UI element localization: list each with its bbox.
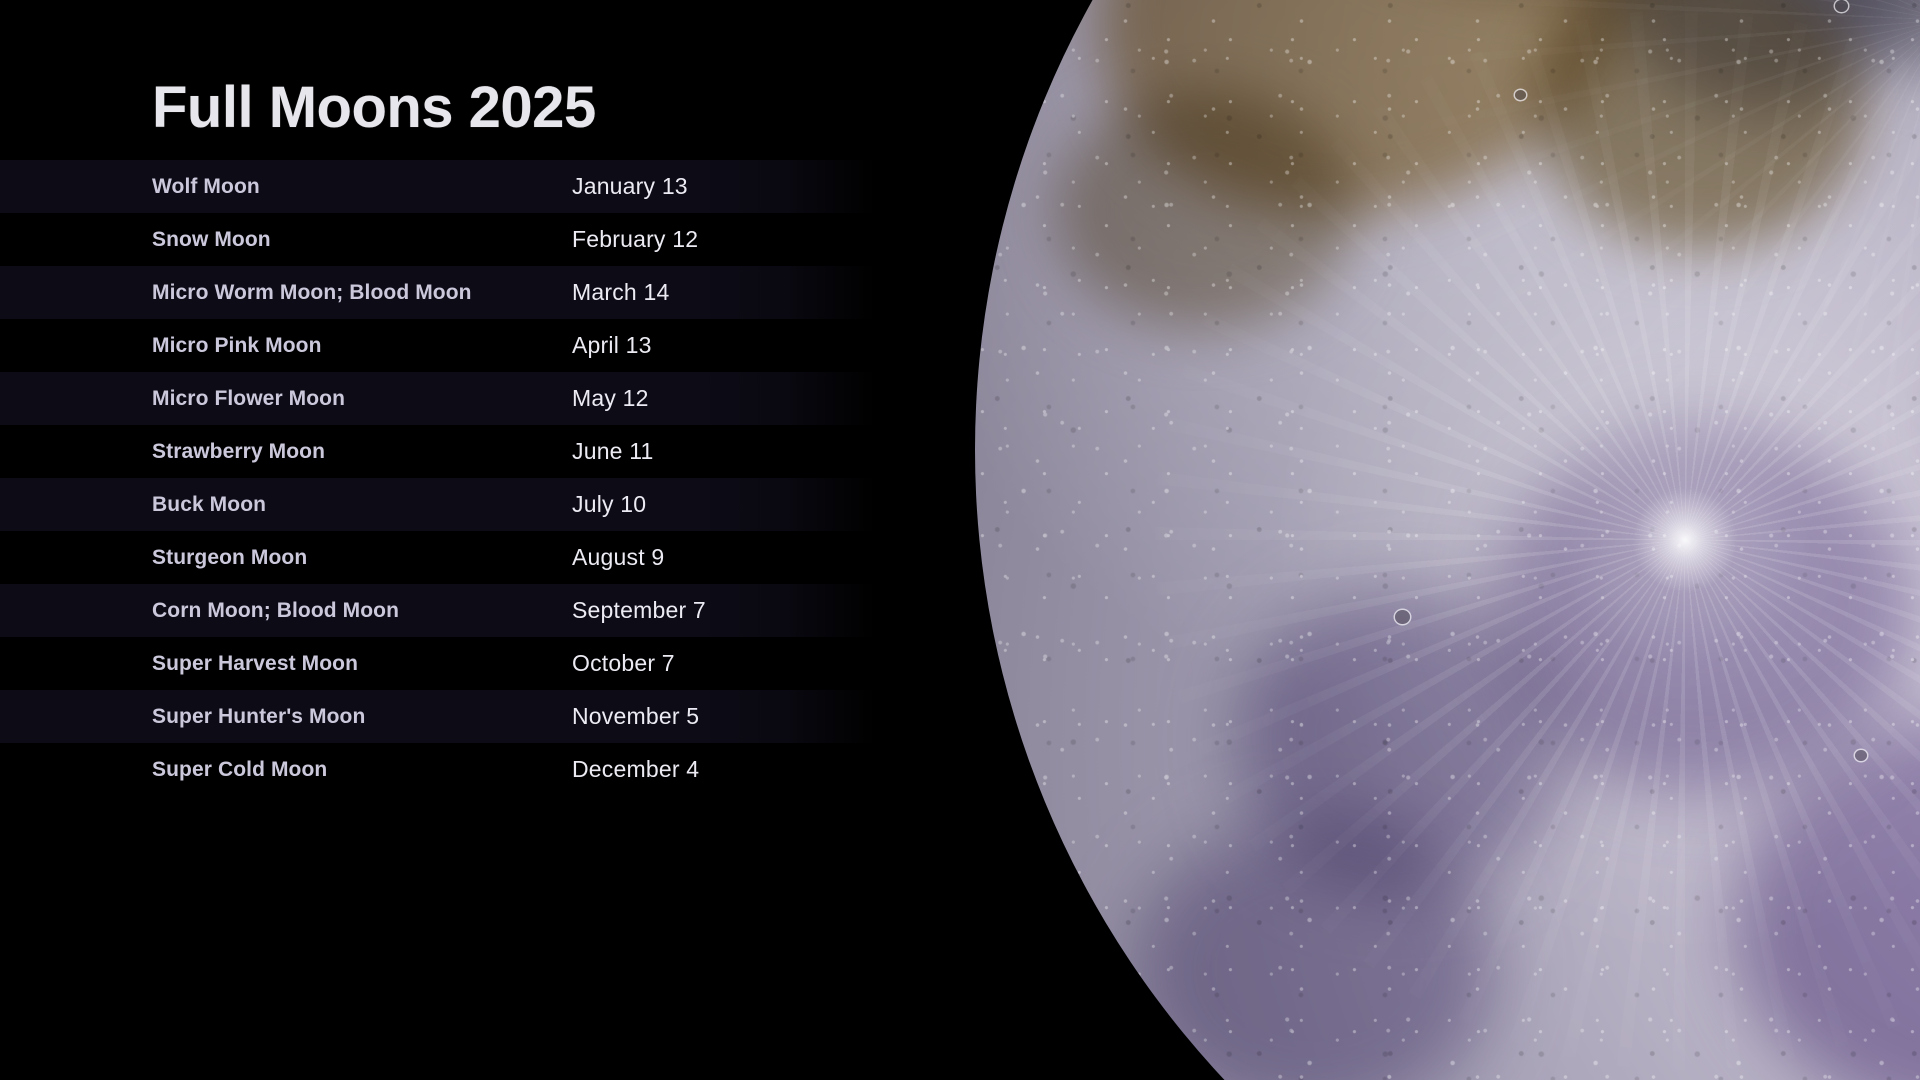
violet-terrain-region [1235,590,1565,890]
small-crater [1835,0,1848,12]
moon-name: Corn Moon; Blood Moon [152,599,572,623]
table-row[interactable]: Buck MoonJuly 10 [0,478,930,531]
small-crater [1855,750,1867,761]
moon-date: June 11 [572,438,654,465]
limb-shadow [975,0,1920,1080]
moon-date: July 10 [572,491,646,518]
moon-date: May 12 [572,385,649,412]
limb-ridge-texture [975,0,1920,1080]
table-row[interactable]: Snow MoonFebruary 12 [0,213,930,266]
moon-date: April 13 [572,332,652,359]
moon-name: Snow Moon [152,228,572,252]
table-row[interactable]: Micro Worm Moon; Blood MoonMarch 14 [0,266,930,319]
moon-name: Sturgeon Moon [152,546,572,570]
tan-maria-region [1055,90,1355,330]
grey-maria-region [1615,0,1915,110]
moon-name: Super Hunter's Moon [152,705,572,729]
table-row[interactable]: Super Harvest MoonOctober 7 [0,637,930,690]
table-row[interactable]: Micro Flower MoonMay 12 [0,372,930,425]
moon-name: Super Cold Moon [152,758,572,782]
moon-date: January 13 [572,173,688,200]
violet-terrain-region [1495,430,1915,790]
crater-speckle-texture [975,0,1920,1080]
grey-maria-region [1735,0,1920,70]
moon-name: Micro Pink Moon [152,334,572,358]
moon-date: December 4 [572,756,699,783]
table-row[interactable]: Micro Pink MoonApril 13 [0,319,930,372]
content-panel: Full Moons 2025 Wolf MoonJanuary 13Snow … [0,0,930,1080]
small-crater [1515,90,1526,100]
moon-name: Super Harvest Moon [152,652,572,676]
crater-ray-system [1395,0,1920,570]
violet-terrain-region [1135,820,1495,1080]
table-row[interactable]: Super Hunter's MoonNovember 5 [0,690,930,743]
moon-date: September 7 [572,597,706,624]
moon-date: February 12 [572,226,698,253]
moon-name: Buck Moon [152,493,572,517]
moon-name: Micro Flower Moon [152,387,572,411]
moon-disc [975,0,1920,1080]
table-row[interactable]: Super Cold MoonDecember 4 [0,743,930,796]
moon-name: Wolf Moon [152,175,572,199]
crater-ray-system [1155,10,1920,1070]
moon-name: Strawberry Moon [152,440,572,464]
moon-date: October 7 [572,650,675,677]
page-title: Full Moons 2025 [152,74,596,141]
moon-name: Micro Worm Moon; Blood Moon [152,281,572,305]
small-crater [1395,610,1410,624]
violet-terrain-region [1735,710,1920,1080]
moon-date: August 9 [572,544,664,571]
bright-ray-crater [1275,130,1920,950]
tan-maria-region [1285,0,1920,22]
moon-date: March 14 [572,279,669,306]
tan-maria-region [1535,0,1865,250]
table-row[interactable]: Corn Moon; Blood MoonSeptember 7 [0,584,930,637]
full-moons-table: Wolf MoonJanuary 13Snow MoonFebruary 12M… [0,160,930,796]
table-row[interactable]: Wolf MoonJanuary 13 [0,160,930,213]
table-row[interactable]: Sturgeon MoonAugust 9 [0,531,930,584]
table-row[interactable]: Strawberry MoonJune 11 [0,425,930,478]
poster-canvas: Full Moons 2025 Wolf MoonJanuary 13Snow … [0,0,1920,1080]
moon-date: November 5 [572,703,699,730]
tan-maria-region [1042,0,1688,283]
illuminated-limb [975,0,1920,1080]
